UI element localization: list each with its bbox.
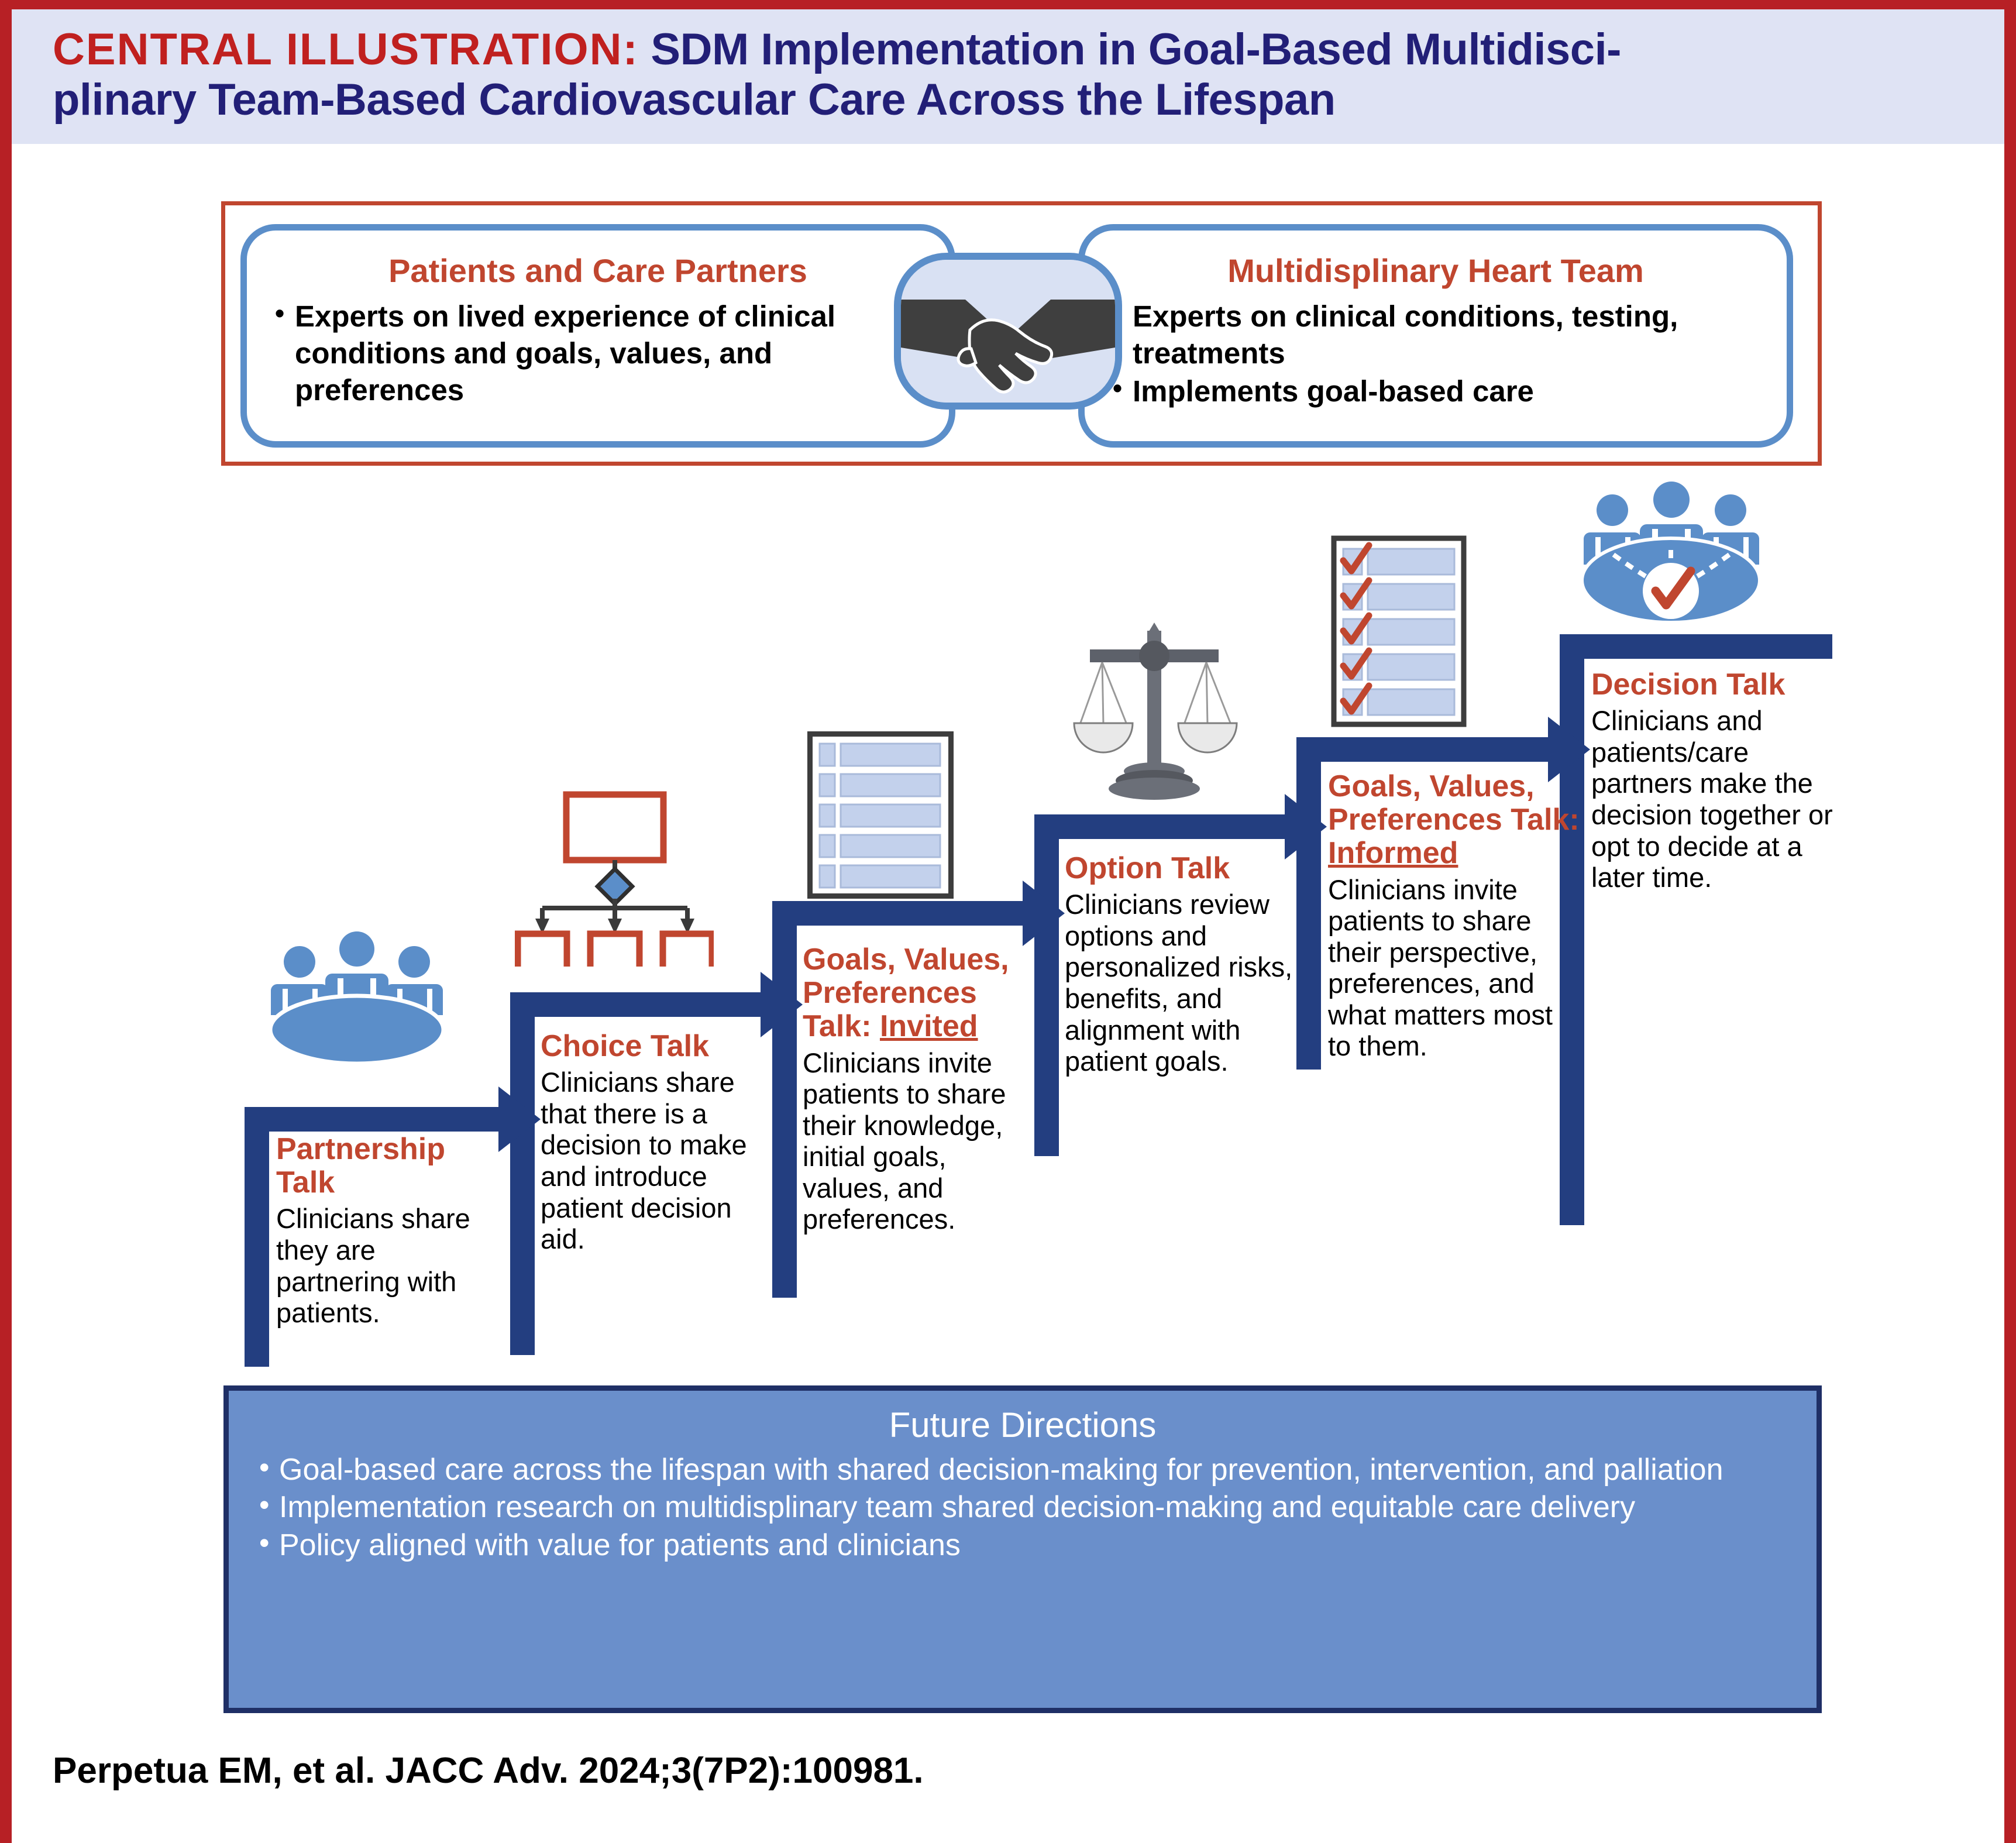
step-title: Choice Talk xyxy=(541,1030,775,1063)
option-talk-arrow-stem xyxy=(1034,814,1059,1156)
step-title: Goals, Values, Preferences Talk: Informe… xyxy=(1328,770,1580,871)
partnership-talk-arrow-head xyxy=(498,1086,541,1152)
checklist-document-icon xyxy=(807,731,954,899)
list-item: Experts on clinical conditions, testing,… xyxy=(1113,298,1773,372)
step-body: Clinicians review options and personaliz… xyxy=(1065,889,1310,1077)
patients-care-partners-card: Patients and Care Partners Experts on li… xyxy=(240,224,955,448)
team-decision-icon xyxy=(1577,476,1764,630)
step-body: Clinicians share that there is a decisio… xyxy=(541,1067,775,1254)
decision-talk-arrow-top xyxy=(1560,634,1832,659)
gvp-invited-arrow-stem xyxy=(772,901,797,1298)
step-gvp-invited: Goals, Values, Preferences Talk: Invited… xyxy=(803,943,1037,1235)
checklist-document-glyph xyxy=(813,737,948,893)
step-title-text: Option Talk xyxy=(1065,851,1230,885)
gvp-invited-arrow-head xyxy=(1023,881,1065,946)
future-directions-heading: Future Directions xyxy=(229,1391,1817,1449)
step-choice-talk: Choice Talk Clinicians share that there … xyxy=(541,1030,775,1255)
choice-talk-arrow-head xyxy=(761,972,803,1037)
step-partnership-talk: Partnership Talk Clinicians share they a… xyxy=(276,1133,504,1329)
step-title-text: Goals, Values, Preferences Talk: xyxy=(1328,769,1580,837)
checked-checklist-icon xyxy=(1329,535,1475,728)
team-decision-glyph xyxy=(1577,476,1764,630)
heart-team-card-bullets: Experts on clinical conditions, testing,… xyxy=(1085,298,1787,410)
step-title-text: Decision Talk xyxy=(1591,668,1785,702)
balance-scale-glyph xyxy=(1069,610,1239,803)
step-title-text: Choice Talk xyxy=(541,1029,709,1063)
heart-team-card-heading: Multidisplinary Heart Team xyxy=(1085,252,1787,290)
illustration-root: CENTRAL ILLUSTRATION: SDM Implementation… xyxy=(0,0,2016,1843)
checked-checklist-glyph xyxy=(1329,535,1475,728)
partnership-talk-arrow-stem xyxy=(245,1107,269,1367)
title-line1: SDM Implementation in Goal-Based Multidi… xyxy=(639,25,1621,74)
page-title: CENTRAL ILLUSTRATION: SDM Implementation… xyxy=(53,25,1969,125)
title-banner: CENTRAL ILLUSTRATION: SDM Implementation… xyxy=(12,9,2004,144)
balance-scale-icon xyxy=(1069,610,1239,803)
list-item: Implementation research on multidisplina… xyxy=(256,1490,1790,1525)
step-body: Clinicians invite patients to share thei… xyxy=(1328,874,1580,1062)
citation-text: Perpetua EM, et al. JACC Adv. 2024;3(7P2… xyxy=(53,1750,924,1792)
option-talk-arrow-head xyxy=(1285,794,1327,859)
patients-card-bullets: Experts on lived experience of clinical … xyxy=(247,298,949,409)
list-item: Goal-based care across the lifespan with… xyxy=(256,1452,1790,1487)
decision-tree-glyph xyxy=(515,791,714,967)
step-title-text: Partnership Talk xyxy=(276,1132,445,1199)
list-item: Implements goal-based care xyxy=(1113,373,1773,410)
step-title: Goals, Values, Preferences Talk: Invited xyxy=(803,943,1037,1044)
step-title: Option Talk xyxy=(1065,852,1310,885)
handshake-glyph xyxy=(901,260,1115,403)
choice-talk-arrow-stem xyxy=(510,992,535,1355)
gvp-invited-arrow-top xyxy=(772,901,1023,926)
decision-tree-icon xyxy=(515,791,714,967)
step-title: Partnership Talk xyxy=(276,1133,504,1199)
patients-card-heading: Patients and Care Partners xyxy=(247,252,949,290)
meeting-people-glyph xyxy=(263,920,450,1066)
heart-team-card: Multidisplinary Heart Team Experts on cl… xyxy=(1078,224,1793,448)
step-gvp-informed: Goals, Values, Preferences Talk: Informe… xyxy=(1328,770,1580,1062)
step-decision-talk: Decision Talk Clinicians and patients/ca… xyxy=(1591,668,1843,893)
step-body: Clinicians share they are partnering wit… xyxy=(276,1203,504,1328)
option-talk-arrow-top xyxy=(1034,814,1285,839)
step-body: Clinicians invite patients to share thei… xyxy=(803,1047,1037,1235)
choice-talk-arrow-top xyxy=(510,992,761,1017)
handshake-icon xyxy=(894,253,1122,410)
step-body: Clinicians and patients/care partners ma… xyxy=(1591,705,1843,893)
future-directions-list: Goal-based care across the lifespan with… xyxy=(229,1449,1817,1563)
step-option-talk: Option Talk Clinicians review options an… xyxy=(1065,852,1310,1077)
title-line2: plinary Team-Based Cardiovascular Care A… xyxy=(53,75,1336,125)
list-item: Policy aligned with value for patients a… xyxy=(256,1528,1790,1563)
partnership-talk-arrow-top xyxy=(245,1107,498,1132)
step-title: Decision Talk xyxy=(1591,668,1843,702)
meeting-people-icon xyxy=(263,920,450,1066)
step-title-underlined: Informed xyxy=(1328,836,1458,870)
future-directions-panel: Future Directions Goal-based care across… xyxy=(223,1385,1822,1713)
gvp-informed-arrow-top xyxy=(1296,737,1548,762)
step-title-underlined: Invited xyxy=(880,1009,978,1043)
list-item: Experts on lived experience of clinical … xyxy=(275,298,935,409)
central-illustration-label: CENTRAL ILLUSTRATION: xyxy=(53,25,639,74)
